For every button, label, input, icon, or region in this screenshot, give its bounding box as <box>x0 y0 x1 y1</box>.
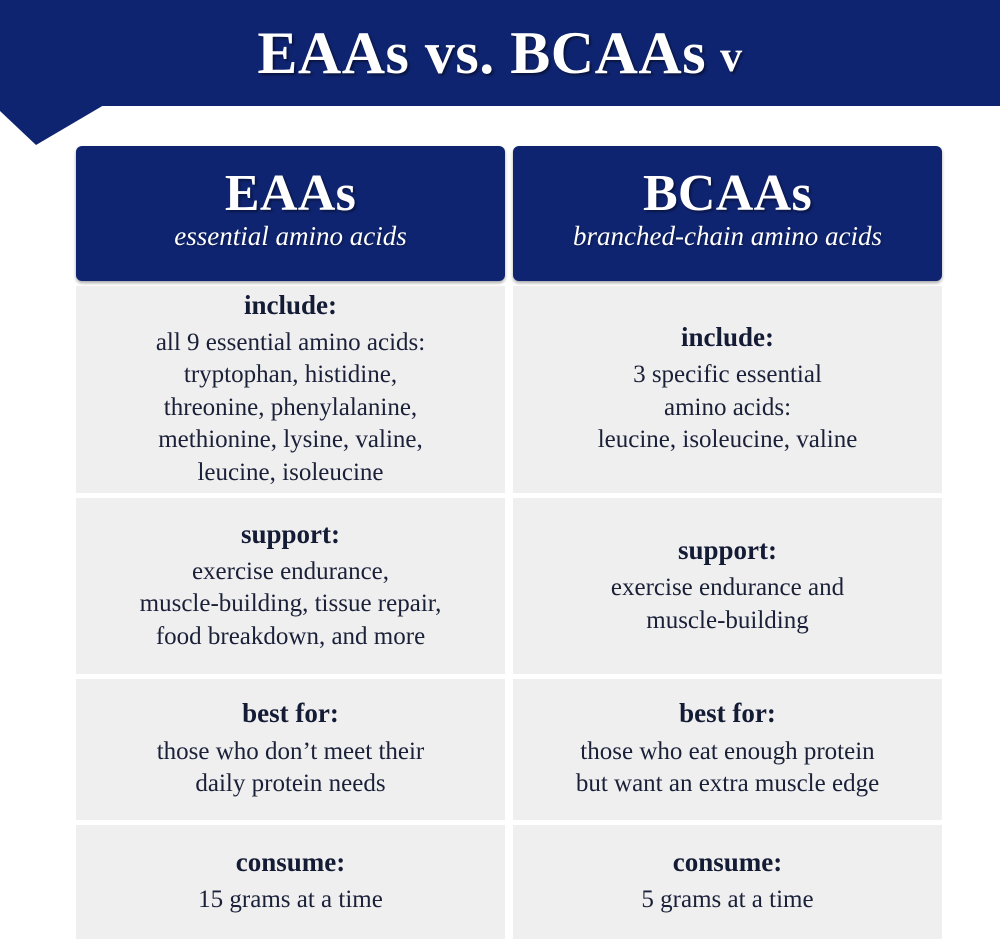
cell-label-include-eaas: include: <box>244 290 337 321</box>
cell-body-best-for-bcaas: those who eat enough protein but want an… <box>576 736 879 801</box>
cell-consume-bcaas: consume: 5 grams at a time <box>513 825 942 939</box>
cell-label-support-eaas: support: <box>241 519 340 550</box>
column-header-bcaas: BCAAs branched-chain amino acids <box>513 146 942 281</box>
cell-label-consume-eaas: consume: <box>236 847 346 878</box>
cell-label-best-for-bcaas: best for: <box>679 698 776 729</box>
column-title-bcaas: BCAAs <box>643 167 812 220</box>
cell-body-include-eaas: all 9 essential amino acids: tryptophan,… <box>156 327 425 490</box>
cell-consume-eaas: consume: 15 grams at a time <box>76 825 505 939</box>
cell-body-support-eaas: exercise endurance, muscle-building, tis… <box>140 556 442 654</box>
cell-support-eaas: support: exercise endurance, muscle-buil… <box>76 498 505 674</box>
header-chevron-notch-icon <box>0 105 104 147</box>
cell-body-support-bcaas: exercise endurance and muscle-building <box>611 572 844 637</box>
cell-body-include-bcaas: 3 specific essential amino acids: leucin… <box>598 359 858 457</box>
cell-body-consume-bcaas: 5 grams at a time <box>641 884 813 917</box>
cell-support-bcaas: support: exercise endurance and muscle-b… <box>513 498 942 674</box>
column-header-eaas: EAAs essential amino acids <box>76 146 505 281</box>
column-subtitle-eaas: essential amino acids <box>174 222 406 252</box>
cell-best-for-eaas: best for: those who don’t meet their dai… <box>76 679 505 820</box>
cell-best-for-bcaas: best for: those who eat enough protein b… <box>513 679 942 820</box>
page-title: EAAs vs. BCAAs v <box>0 0 1000 106</box>
chevron-v-icon: v <box>720 35 743 79</box>
cell-label-consume-bcaas: consume: <box>673 847 783 878</box>
cell-body-consume-eaas: 15 grams at a time <box>198 884 383 917</box>
cell-include-eaas: include: all 9 essential amino acids: tr… <box>76 286 505 493</box>
cell-body-best-for-eaas: those who don’t meet their daily protein… <box>157 736 425 801</box>
page-title-text: EAAs vs. BCAAs <box>257 23 706 83</box>
cell-label-best-for-eaas: best for: <box>242 698 339 729</box>
column-title-eaas: EAAs <box>225 167 356 220</box>
cell-include-bcaas: include: 3 specific essential amino acid… <box>513 286 942 493</box>
column-subtitle-bcaas: branched-chain amino acids <box>573 222 882 252</box>
cell-label-include-bcaas: include: <box>681 322 774 353</box>
comparison-table: EAAs essential amino acids BCAAs branche… <box>76 146 942 939</box>
cell-label-support-bcaas: support: <box>678 535 777 566</box>
